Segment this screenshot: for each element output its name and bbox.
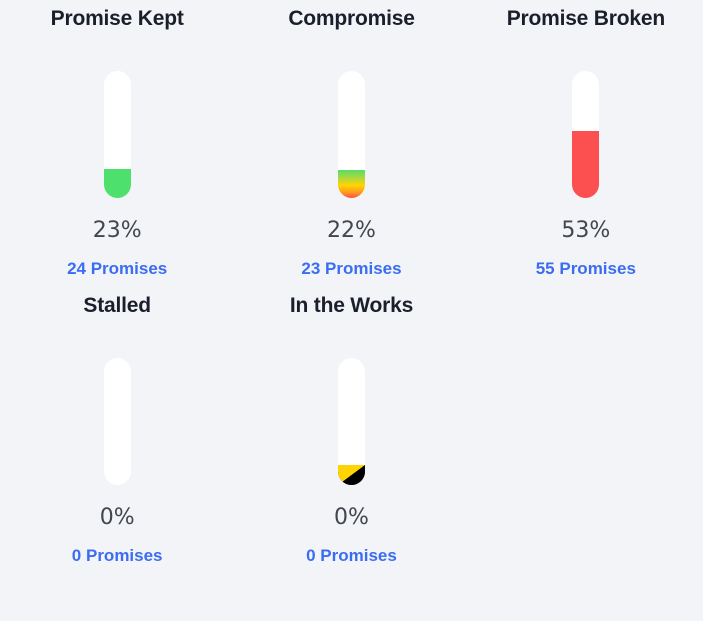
promises-link-compromise[interactable]: 23 Promises xyxy=(301,260,401,277)
gauge-fill-promise-kept xyxy=(104,169,131,198)
gauge-card-promise-kept: Promise Kept 23% 24 Promises xyxy=(0,8,234,277)
gauge-card-compromise: Compromise 22% 23 Promises xyxy=(234,8,468,277)
promises-link-stalled[interactable]: 0 Promises xyxy=(72,547,163,564)
gauge-card-in-the-works: In the Works 0% 0 Promises xyxy=(234,295,468,564)
gauge-tube-promise-broken xyxy=(572,71,599,198)
gauge-percent-in-the-works: 0% xyxy=(334,507,369,529)
card-title-compromise: Compromise xyxy=(288,8,414,29)
gauge-card-promise-broken: Promise Broken 53% 55 Promises xyxy=(469,8,703,277)
gauge-row-bottom: Stalled 0% 0 Promises In the Works 0% 0 … xyxy=(0,277,703,564)
gauge-tube-wrapper-compromise xyxy=(338,71,365,198)
promises-link-promise-kept[interactable]: 24 Promises xyxy=(67,260,167,277)
gauge-row-top: Promise Kept 23% 24 Promises Compromise … xyxy=(0,0,703,277)
gauge-tube-wrapper-promise-kept xyxy=(104,71,131,198)
gauge-tube-wrapper-stalled xyxy=(104,358,131,485)
card-title-promise-broken: Promise Broken xyxy=(507,8,665,29)
card-title-stalled: Stalled xyxy=(83,295,150,316)
gauge-tube-wrapper-promise-broken xyxy=(572,71,599,198)
gauge-percent-compromise: 22% xyxy=(327,220,376,242)
promises-link-in-the-works[interactable]: 0 Promises xyxy=(306,547,397,564)
gauge-card-stalled: Stalled 0% 0 Promises xyxy=(0,295,234,564)
gauge-percent-promise-broken: 53% xyxy=(561,220,610,242)
promises-link-promise-broken[interactable]: 55 Promises xyxy=(536,260,636,277)
gauge-fill-promise-broken xyxy=(572,131,599,198)
gauge-grid-spacer xyxy=(469,295,703,564)
gauge-tube-in-the-works xyxy=(338,358,365,485)
card-title-promise-kept: Promise Kept xyxy=(51,8,184,29)
gauge-tube-promise-kept xyxy=(104,71,131,198)
gauge-tube-compromise xyxy=(338,71,365,198)
gauge-tube-stalled xyxy=(104,358,131,485)
gauge-percent-stalled: 0% xyxy=(100,507,135,529)
promise-tracker-gauge-board: Promise Kept 23% 24 Promises Compromise … xyxy=(0,0,703,621)
gauge-fill-in-the-works xyxy=(338,465,365,485)
gauge-fill-compromise xyxy=(338,170,365,198)
card-title-in-the-works: In the Works xyxy=(290,295,413,316)
gauge-percent-promise-kept: 23% xyxy=(93,220,142,242)
gauge-tube-wrapper-in-the-works xyxy=(338,358,365,485)
